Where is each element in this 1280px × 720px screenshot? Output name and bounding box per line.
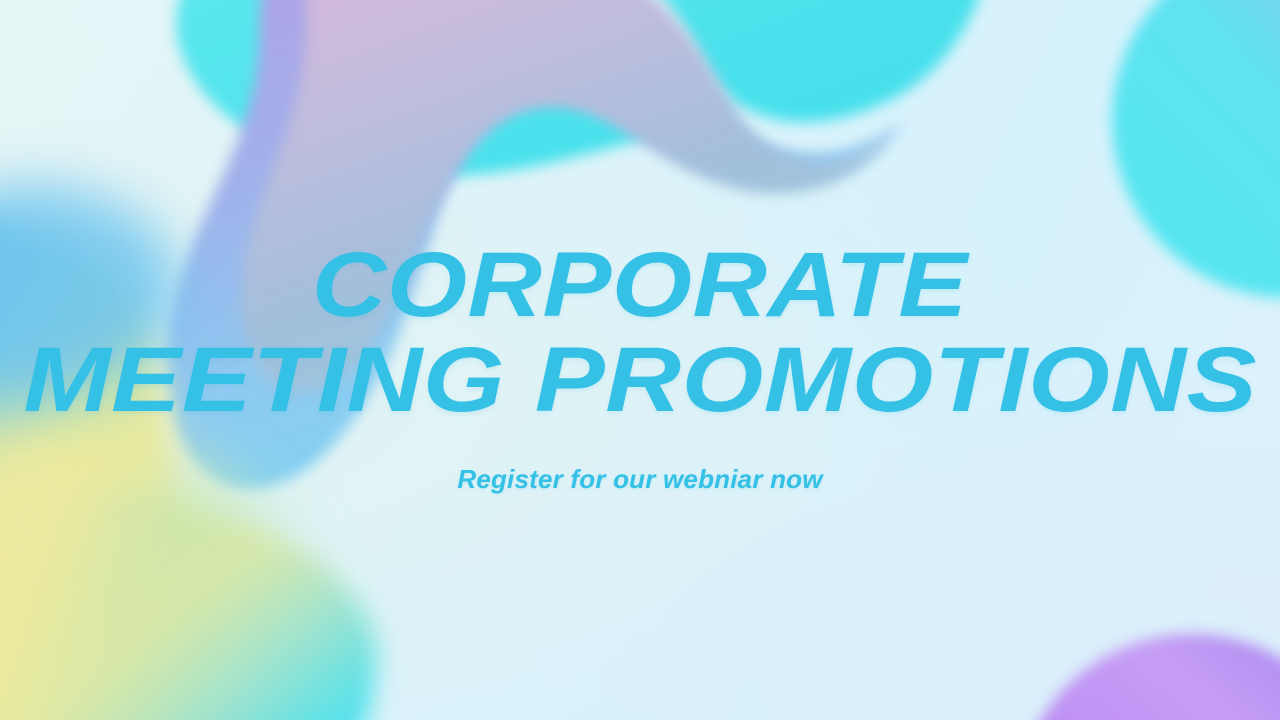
promo-poster: CORPORATE MEETING PROMOTIONS Register fo… <box>0 0 1280 720</box>
top-right-circle <box>1112 0 1280 298</box>
background-decorations <box>0 0 1280 720</box>
bottom-right-circle <box>1016 634 1280 720</box>
